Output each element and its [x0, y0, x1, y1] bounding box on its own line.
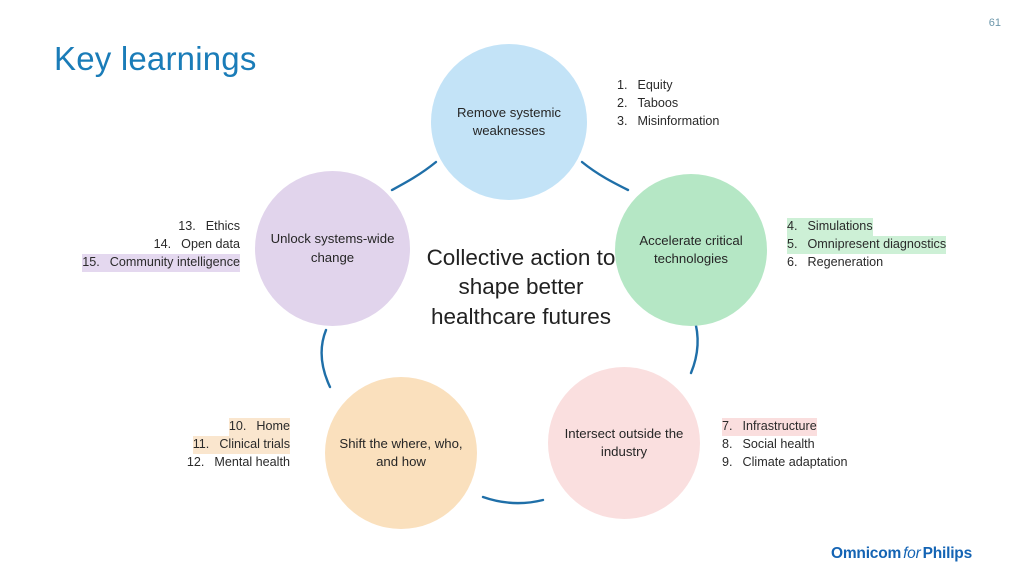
list-item: 7.Infrastructure: [722, 418, 848, 436]
footer-brand-philips: Philips: [923, 545, 972, 562]
list-item: 12.Mental health: [150, 454, 290, 472]
list-item-highlight: 5.Omnipresent diagnostics: [787, 236, 946, 254]
node-label: Shift the where, who, and how: [325, 435, 477, 471]
list-item: 14.Open data: [58, 236, 240, 254]
node-label: Remove systemic weaknesses: [431, 104, 587, 140]
center-statement: Collective action to shape better health…: [406, 243, 636, 331]
list-item: 3.Misinformation: [617, 113, 719, 131]
list-item-text: Ethics: [196, 219, 240, 233]
list-item-number: 7.: [722, 419, 733, 433]
list-item-text: Omnipresent diagnostics: [798, 237, 947, 251]
list-item-number: 4.: [787, 219, 798, 233]
list-item-number: 11.: [193, 437, 210, 451]
node-label: Accelerate critical technologies: [615, 232, 767, 268]
footer-brand-for: for: [901, 545, 923, 562]
list-item-number: 2.: [617, 96, 628, 110]
node-remove-systemic-weaknesses[interactable]: Remove systemic weaknesses: [431, 44, 587, 200]
list-item: 10.Home: [150, 418, 290, 436]
list-item-number: 10.: [229, 419, 247, 433]
list-item-number: 3.: [617, 114, 628, 128]
list-item-highlight: 12.Mental health: [187, 454, 290, 472]
connector-unlock-shift: [322, 330, 330, 387]
list-item: 6.Regeneration: [787, 254, 946, 272]
list-item-number: 1.: [617, 78, 628, 92]
list-item-highlight: 9.Climate adaptation: [722, 454, 848, 472]
list-item: 15.Community intelligence: [58, 254, 240, 272]
list-item-text: Equity: [628, 78, 673, 92]
list-item-text: Infrastructure: [733, 419, 817, 433]
list-item-text: Climate adaptation: [733, 455, 848, 469]
connector-accelerate-intersect: [691, 318, 698, 373]
list-item: 8.Social health: [722, 436, 848, 454]
list-item-number: 12.: [187, 455, 205, 469]
list-item-number: 5.: [787, 237, 798, 251]
list-item-text: Mental health: [204, 455, 290, 469]
connector-remove-unlock: [392, 162, 436, 190]
footer-logo: OmnicomforPhilips: [831, 545, 972, 563]
list-item-text: Simulations: [798, 219, 873, 233]
node-label: Intersect outside the industry: [548, 425, 700, 461]
list-item-number: 6.: [787, 255, 798, 269]
list-item: 11.Clinical trials: [150, 436, 290, 454]
list-item-text: Home: [246, 419, 290, 433]
list-remove-systemic-weaknesses: 1.Equity2.Taboos3.Misinformation: [617, 77, 719, 131]
node-shift-the-where-who-and-how[interactable]: Shift the where, who, and how: [325, 377, 477, 529]
connector-intersect-shift: [483, 497, 543, 503]
list-item-highlight: 14.Open data: [154, 236, 240, 254]
list-item-highlight: 2.Taboos: [617, 95, 678, 113]
list-item: 2.Taboos: [617, 95, 719, 113]
slide-canvas: Key learnings 61 Remove systemic weaknes…: [0, 0, 1024, 576]
list-item-text: Regeneration: [798, 255, 884, 269]
list-item: 13.Ethics: [58, 218, 240, 236]
list-shift-the-where-who-and-how: 10.Home11.Clinical trials12.Mental healt…: [150, 418, 290, 472]
list-item: 1.Equity: [617, 77, 719, 95]
list-item-highlight: 6.Regeneration: [787, 254, 883, 272]
node-accelerate-critical-technologies[interactable]: Accelerate critical technologies: [615, 174, 767, 326]
list-item-highlight: 10.Home: [229, 418, 290, 436]
list-item-number: 15.: [82, 255, 100, 269]
node-label: Unlock systems-wide change: [255, 230, 410, 266]
list-item-number: 9.: [722, 455, 733, 469]
node-unlock-systems-wide-change[interactable]: Unlock systems-wide change: [255, 171, 410, 326]
list-item-number: 8.: [722, 437, 733, 451]
list-item-highlight: 3.Misinformation: [617, 113, 719, 131]
connector-remove-accelerate: [582, 162, 628, 190]
list-item-highlight: 4.Simulations: [787, 218, 873, 236]
list-item-highlight: 7.Infrastructure: [722, 418, 817, 436]
list-item-highlight: 1.Equity: [617, 77, 673, 95]
list-item-highlight: 15.Community intelligence: [82, 254, 240, 272]
list-item-text: Open data: [171, 237, 240, 251]
list-accelerate-critical-technologies: 4.Simulations5.Omnipresent diagnostics6.…: [787, 218, 946, 272]
list-item-text: Taboos: [628, 96, 679, 110]
list-item-number: 13.: [178, 219, 196, 233]
list-item-text: Misinformation: [628, 114, 720, 128]
list-item-highlight: 13.Ethics: [178, 218, 240, 236]
list-item: 9.Climate adaptation: [722, 454, 848, 472]
list-item: 5.Omnipresent diagnostics: [787, 236, 946, 254]
list-intersect-outside-the-industry: 7.Infrastructure8.Social health9.Climate…: [722, 418, 848, 472]
footer-brand-omnicom: Omnicom: [831, 545, 901, 562]
list-unlock-systems-wide-change: 13.Ethics14.Open data15.Community intell…: [58, 218, 240, 272]
list-item-number: 14.: [154, 237, 172, 251]
list-item-highlight: 8.Social health: [722, 436, 815, 454]
list-item: 4.Simulations: [787, 218, 946, 236]
list-item-text: Community intelligence: [100, 255, 240, 269]
list-item-text: Clinical trials: [209, 437, 290, 451]
list-item-highlight: 11.Clinical trials: [193, 436, 290, 454]
list-item-text: Social health: [733, 437, 815, 451]
node-intersect-outside-the-industry[interactable]: Intersect outside the industry: [548, 367, 700, 519]
